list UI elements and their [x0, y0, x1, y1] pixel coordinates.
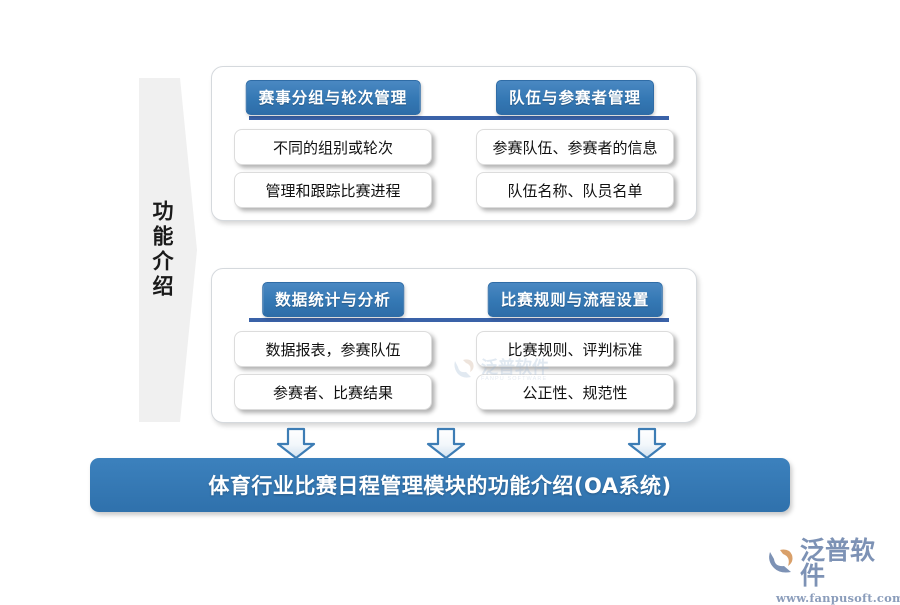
fanpu-logo: 泛普软件 www.fanpusoft.com	[766, 538, 890, 590]
function-introduction-label: 功能介绍	[142, 74, 182, 426]
down-arrow-2	[424, 427, 468, 460]
group-title-competition-grouping[interactable]: 赛事分组与轮次管理	[246, 80, 421, 115]
group-column-data-statistics: 数据统计与分析 数据报表，参赛队伍 参赛者、比赛结果	[212, 269, 454, 422]
item-box[interactable]: 管理和跟踪比赛进程	[234, 172, 432, 208]
diagram-canvas: 功能介绍 赛事分组与轮次管理 不同的组别或轮次 管理和跟踪比赛进程 队伍与参赛者…	[0, 0, 900, 600]
down-arrow-1	[274, 427, 318, 460]
function-introduction-chevron: 功能介绍	[136, 74, 198, 426]
fanpu-logo-mark-icon	[766, 547, 796, 580]
summary-banner[interactable]: 体育行业比赛日程管理模块的功能介绍(OA系统)	[90, 458, 790, 512]
summary-banner-text: 体育行业比赛日程管理模块的功能介绍(OA系统)	[208, 470, 671, 500]
group-panel-bottom: 数据统计与分析 数据报表，参赛队伍 参赛者、比赛结果 比赛规则与流程设置 比赛规…	[211, 268, 697, 423]
group-title-rules-workflow[interactable]: 比赛规则与流程设置	[488, 282, 663, 317]
group-column-team-participant: 队伍与参赛者管理 参赛队伍、参赛者的信息 队伍名称、队员名单	[454, 67, 696, 220]
group-panel-top: 赛事分组与轮次管理 不同的组别或轮次 管理和跟踪比赛进程 队伍与参赛者管理 参赛…	[211, 66, 697, 221]
item-box[interactable]: 队伍名称、队员名单	[476, 172, 674, 208]
fanpu-logo-url: www.fanpusoft.com	[776, 591, 890, 605]
item-box[interactable]: 比赛规则、评判标准	[476, 331, 674, 367]
item-box[interactable]: 参赛队伍、参赛者的信息	[476, 129, 674, 165]
group-title-team-participant[interactable]: 队伍与参赛者管理	[496, 80, 654, 115]
item-box[interactable]: 参赛者、比赛结果	[234, 374, 432, 410]
down-arrow-3	[625, 427, 669, 460]
item-box[interactable]: 公正性、规范性	[476, 374, 674, 410]
item-box[interactable]: 不同的组别或轮次	[234, 129, 432, 165]
group-column-rules-workflow: 比赛规则与流程设置 比赛规则、评判标准 公正性、规范性	[454, 269, 696, 422]
fanpu-logo-zh: 泛普软件	[800, 538, 890, 588]
group-column-competition-grouping: 赛事分组与轮次管理 不同的组别或轮次 管理和跟踪比赛进程	[212, 67, 454, 220]
group-title-data-statistics[interactable]: 数据统计与分析	[262, 282, 404, 317]
item-box[interactable]: 数据报表，参赛队伍	[234, 331, 432, 367]
